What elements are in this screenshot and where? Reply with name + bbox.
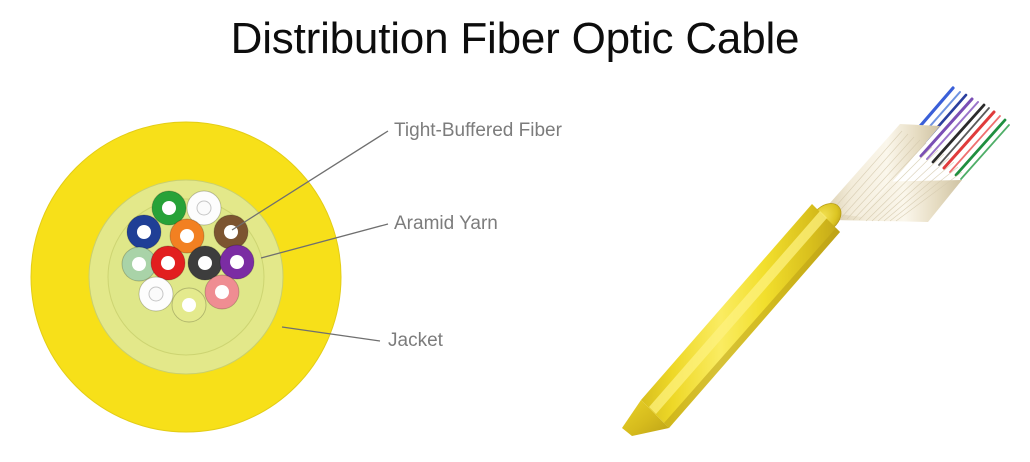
callout-label-jacket: Jacket xyxy=(388,330,443,352)
figure-root: Distribution Fiber Optic Cable xyxy=(0,0,1030,462)
photo-jacket-highlight xyxy=(649,211,827,414)
callout-label-aramid-yarn: Aramid Yarn xyxy=(394,213,498,235)
diagram-canvas xyxy=(0,0,1030,462)
fiber-red xyxy=(151,246,185,280)
cable-photo xyxy=(622,88,1009,436)
fiber-blue xyxy=(127,215,161,249)
callout-label-tight-buffered-fiber: Tight-Buffered Fiber xyxy=(394,120,562,142)
cross-section-diagram xyxy=(31,122,388,432)
photo-jacket-shadow-edge xyxy=(664,228,840,428)
fiber-white-low xyxy=(139,277,173,311)
fiber-brown xyxy=(214,215,248,249)
fiber-cream xyxy=(172,288,206,322)
fiber-black xyxy=(188,246,222,280)
fiber-rose xyxy=(205,275,239,309)
fiber-violet xyxy=(220,245,254,279)
